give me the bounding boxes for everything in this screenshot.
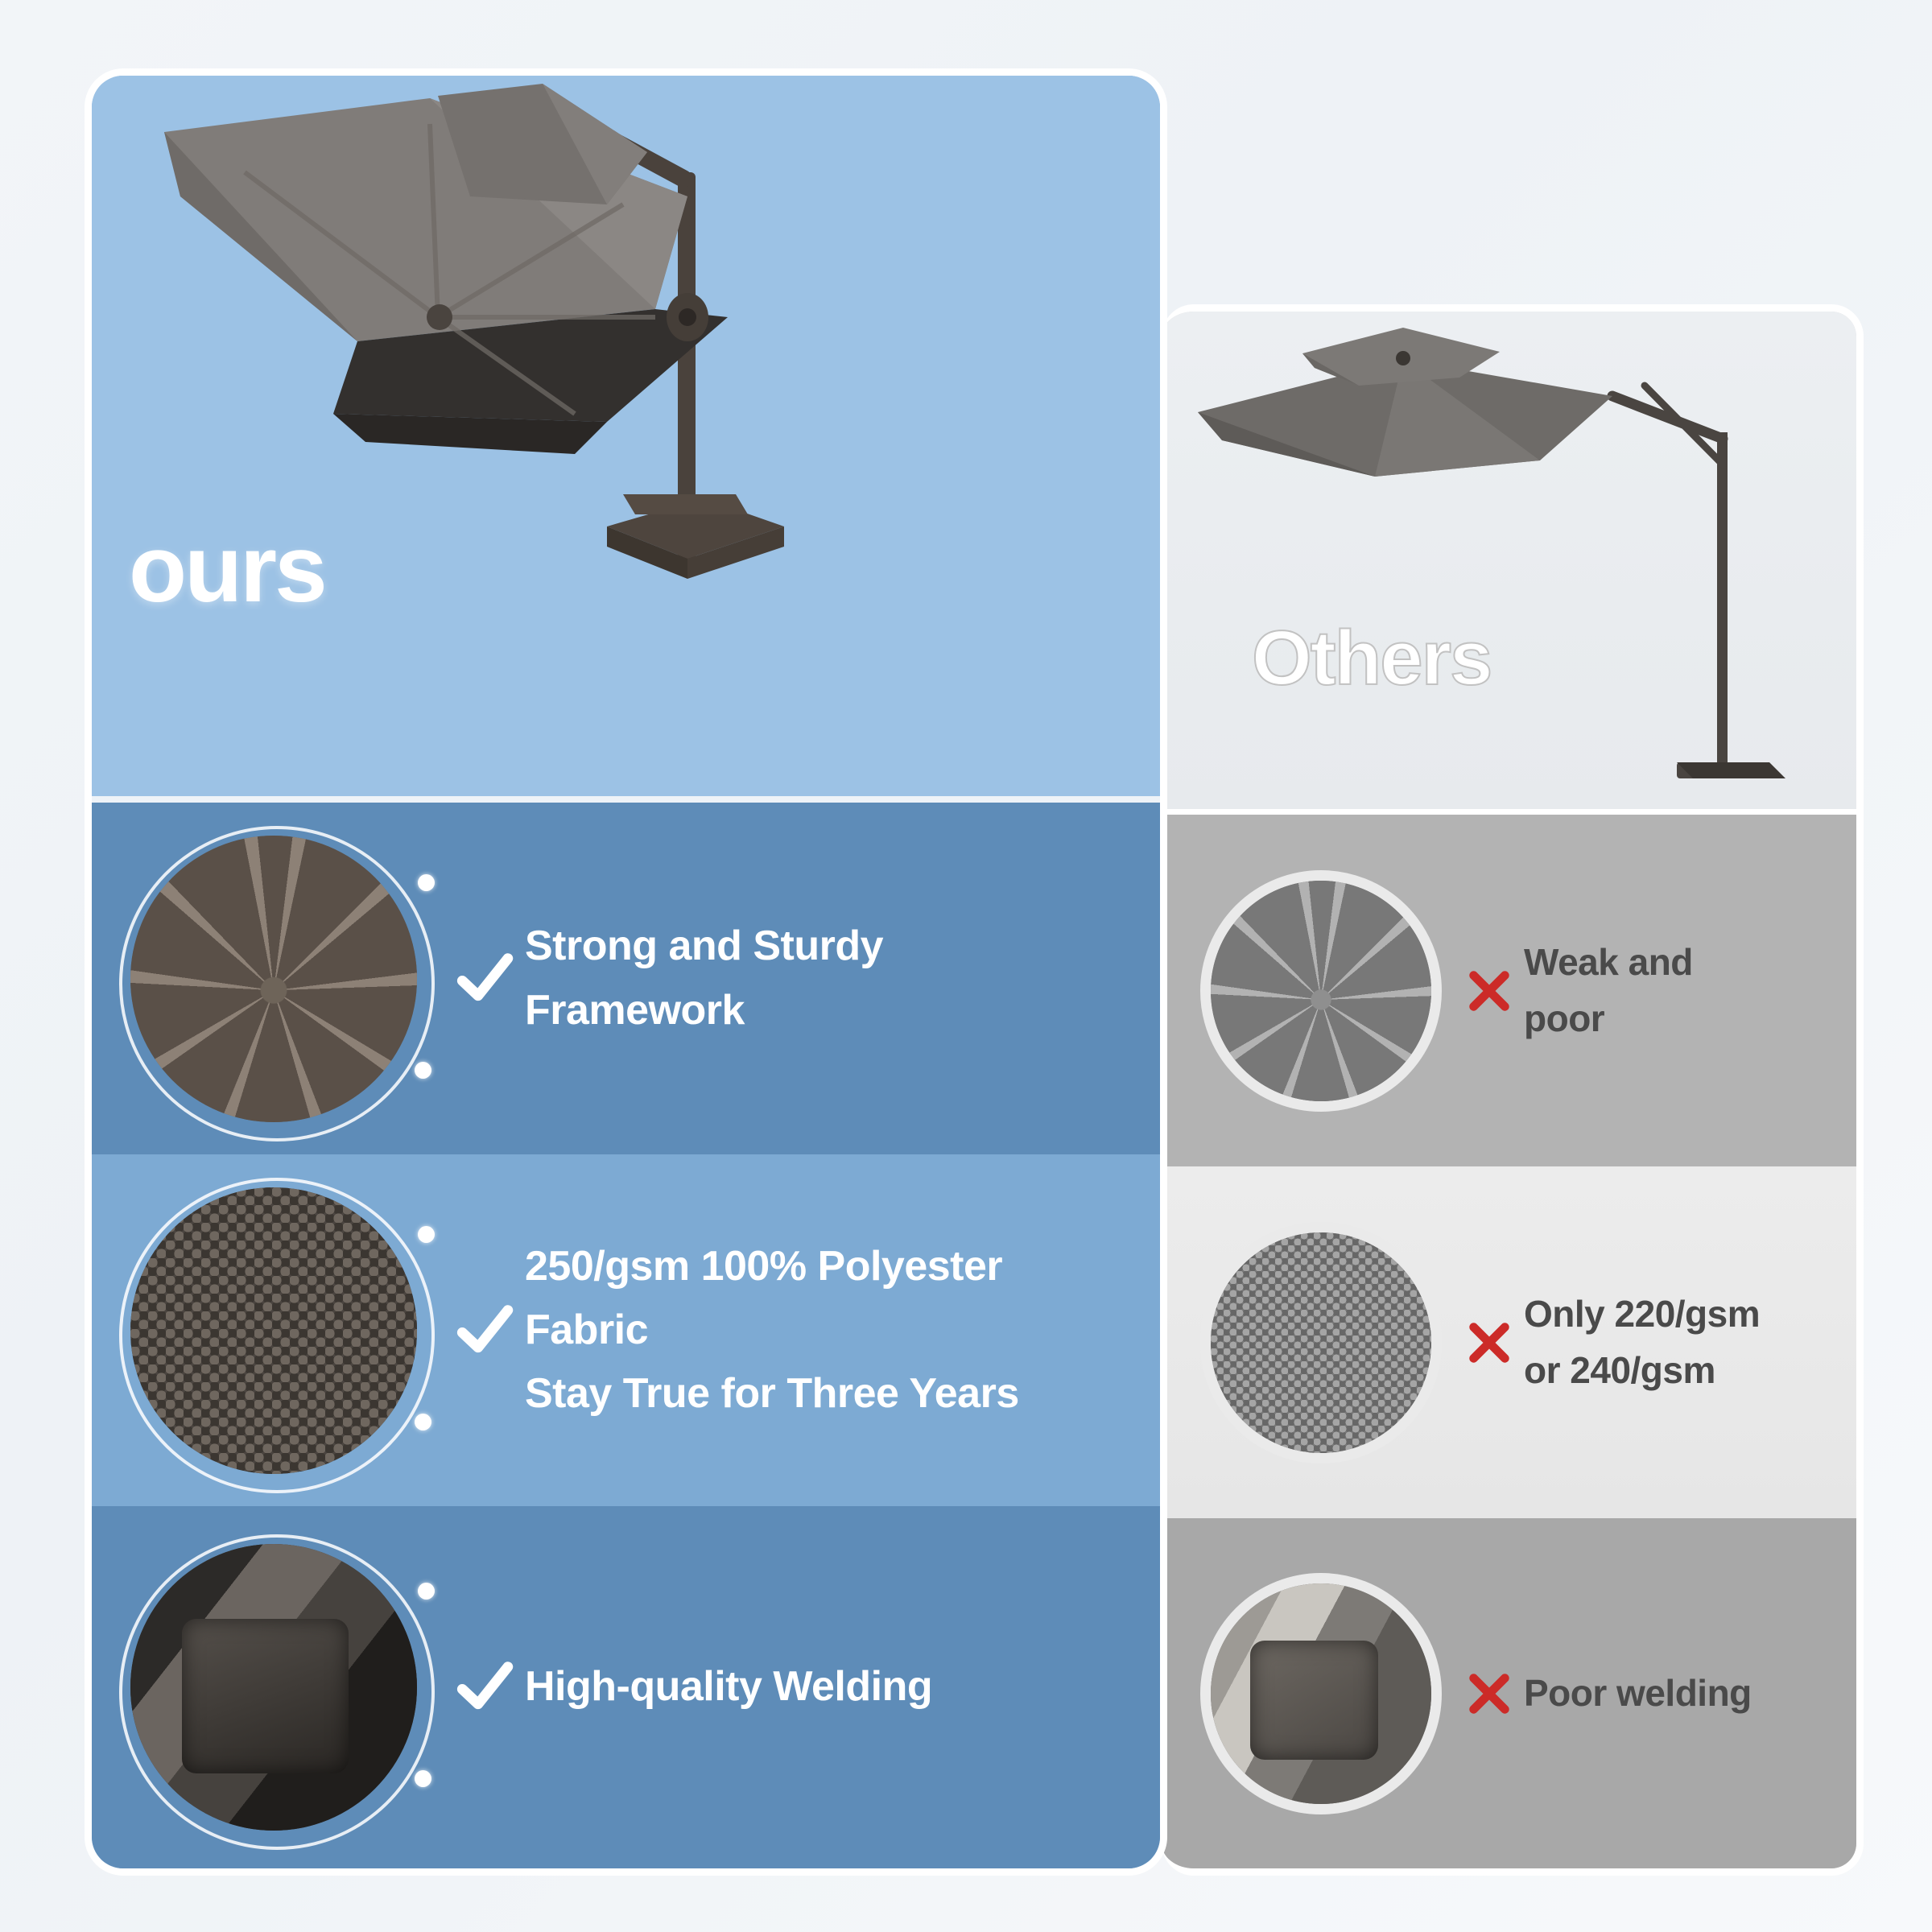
cross-icon	[1455, 1669, 1524, 1719]
others-row-fabric: Only 220/gsm or 240/gsm	[1162, 1166, 1856, 1518]
cantilever-patio-umbrella	[92, 76, 1167, 796]
others-rows: Weak and poor Only 220/gsm or 2	[1162, 312, 1856, 1868]
ours-panel: Strong and Sturdy Framework	[85, 68, 1167, 1876]
ours-row-welding: High-quality Welding	[92, 1506, 1160, 1868]
others-caption-fabric: Only 220/gsm or 240/gsm	[1524, 1286, 1760, 1399]
orbit-dot	[415, 1062, 431, 1079]
cross-icon	[1455, 1318, 1524, 1368]
ours-divider-1	[92, 796, 1160, 803]
others-circle-welding	[1200, 1573, 1442, 1814]
ours-caption-welding: High-quality Welding	[525, 1655, 932, 1719]
ours-hero	[92, 76, 1160, 796]
others-circle-framework	[1200, 870, 1442, 1112]
others-circle-fabric	[1200, 1222, 1442, 1463]
ours-caption-framework: Strong and Sturdy Framework	[525, 914, 883, 1042]
ours-circle-fabric	[130, 1187, 417, 1474]
orbit-dot	[418, 1583, 435, 1600]
others-caption-framework: Weak and poor	[1524, 935, 1693, 1047]
others-divider-1	[1162, 809, 1856, 815]
others-panel: Weak and poor Only 220/gsm or 2	[1162, 304, 1864, 1876]
ours-circle-framework	[130, 836, 417, 1122]
competitor-weld-closeup	[1200, 1573, 1442, 1814]
umbrella-frame-closeup	[130, 836, 417, 1122]
ours-heading: ours	[129, 522, 325, 617]
competitor-frame-closeup	[1200, 870, 1442, 1112]
competitor-fabric-swatch	[1200, 1222, 1442, 1463]
ours-rows: Strong and Sturdy Framework	[92, 76, 1160, 1868]
others-row-framework: Weak and poor	[1162, 815, 1856, 1166]
polyester-fabric-swatch	[130, 1187, 417, 1474]
cross-icon	[1455, 966, 1524, 1016]
ours-row-fabric: 250/gsm 100% Polyester Fabric Stay True …	[92, 1154, 1160, 1506]
others-caption-welding: Poor welding	[1524, 1666, 1752, 1722]
comparison-infographic: Weak and poor Only 220/gsm or 2	[0, 0, 1932, 1932]
check-icon	[444, 1657, 525, 1717]
competitor-cantilever-umbrella	[1162, 312, 1864, 809]
orbit-dot	[415, 1770, 431, 1787]
ours-row-framework: Strong and Sturdy Framework	[92, 803, 1160, 1154]
welded-joint-closeup	[130, 1544, 417, 1831]
others-hero	[1162, 312, 1856, 809]
orbit-dot	[415, 1414, 431, 1430]
others-heading: Others	[1252, 620, 1491, 697]
check-icon	[444, 949, 525, 1009]
ours-caption-fabric: 250/gsm 100% Polyester Fabric Stay True …	[525, 1235, 1019, 1426]
others-row-welding: Poor welding	[1162, 1518, 1856, 1868]
orbit-dot	[418, 1226, 435, 1243]
ours-circle-welding	[130, 1544, 417, 1831]
orbit-dot	[418, 874, 435, 891]
check-icon	[444, 1301, 525, 1360]
